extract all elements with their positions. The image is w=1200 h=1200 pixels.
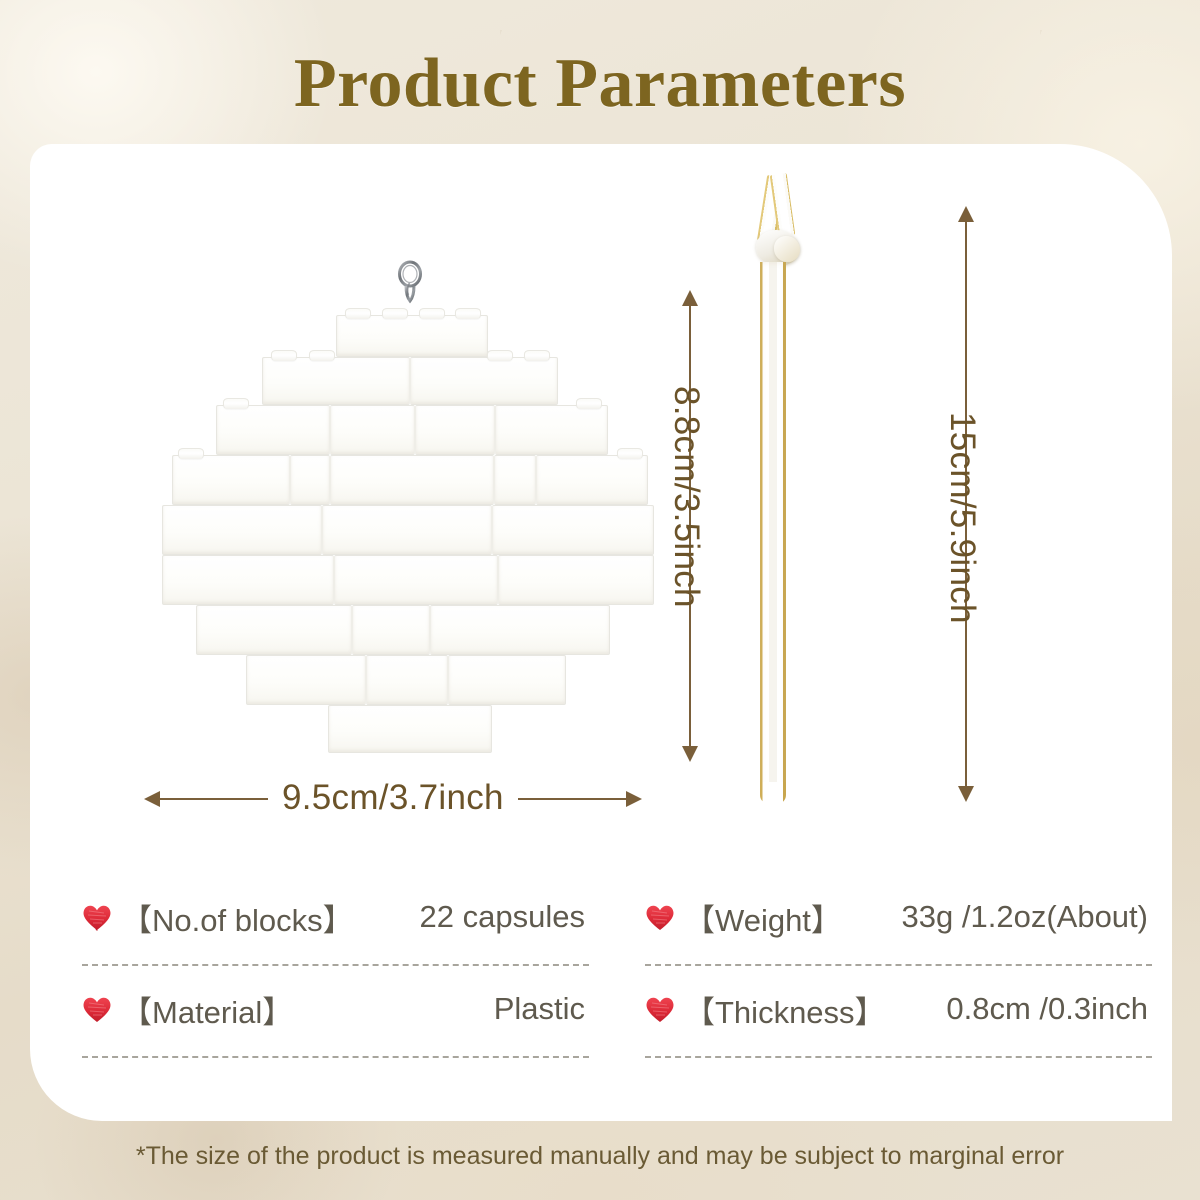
spec-column-right: 【Weight】 33g /1.2oz(About) 【Thickness】 0… bbox=[645, 884, 1152, 1068]
brick bbox=[172, 455, 290, 505]
brick bbox=[162, 505, 322, 555]
spec-row: 【No.of blocks】 22 capsules bbox=[82, 884, 589, 976]
spec-key: 【Weight】 bbox=[684, 895, 842, 940]
brick bbox=[536, 455, 648, 505]
stud bbox=[576, 398, 602, 409]
brick bbox=[430, 605, 610, 655]
brick bbox=[262, 357, 410, 405]
spec-divider bbox=[645, 964, 1152, 966]
brick bbox=[334, 555, 498, 605]
spec-value: 22 capsules bbox=[420, 899, 589, 935]
brick bbox=[290, 455, 330, 505]
spec-table: 【No.of blocks】 22 capsules 【Material】 Pl… bbox=[82, 884, 1152, 1068]
stud bbox=[271, 350, 297, 361]
spec-value: 0.8cm /0.3inch bbox=[946, 991, 1152, 1027]
brick bbox=[498, 555, 654, 605]
brick bbox=[366, 655, 448, 705]
stud bbox=[223, 398, 249, 409]
brick bbox=[415, 405, 495, 455]
brick bbox=[216, 405, 330, 455]
brick-heart-assembly bbox=[150, 297, 670, 857]
disclaimer-text: *The size of the product is measured man… bbox=[0, 1142, 1200, 1171]
spec-row: 【Thickness】 0.8cm /0.3inch bbox=[645, 976, 1152, 1068]
content-card: 8.8cm/3.5inch 9.5cm/3.7inch 15cm/5.9inch bbox=[30, 144, 1172, 1121]
brick bbox=[330, 455, 494, 505]
stud bbox=[178, 448, 204, 459]
brick bbox=[196, 605, 352, 655]
brick bbox=[410, 357, 558, 405]
ribbon-band bbox=[760, 262, 786, 790]
spec-divider bbox=[645, 1056, 1152, 1058]
heart-icon bbox=[645, 904, 675, 931]
dimension-ribbon-length-label: 15cm/5.9inch bbox=[942, 412, 982, 624]
spec-value: 33g /1.2oz(About) bbox=[902, 899, 1152, 935]
brick bbox=[494, 455, 536, 505]
heart-icon bbox=[82, 904, 112, 931]
ribbon-product-figure bbox=[730, 174, 870, 824]
brick bbox=[448, 655, 566, 705]
ribbon-knot-loop bbox=[774, 236, 800, 262]
brick bbox=[328, 705, 492, 753]
heart-icon bbox=[645, 996, 675, 1023]
heart-icon bbox=[82, 996, 112, 1023]
spec-key: 【Material】 bbox=[121, 987, 293, 1032]
brick bbox=[352, 605, 430, 655]
brick bbox=[246, 655, 366, 705]
brick bbox=[495, 405, 608, 455]
spec-row: 【Material】 Plastic bbox=[82, 976, 589, 1068]
brick bbox=[322, 505, 492, 555]
spec-key: 【Thickness】 bbox=[684, 987, 886, 1032]
spec-key: 【No.of blocks】 bbox=[121, 895, 354, 940]
ribbon-end bbox=[760, 782, 786, 804]
dimension-heart-width-label: 9.5cm/3.7inch bbox=[268, 778, 518, 818]
brick bbox=[492, 505, 654, 555]
stud bbox=[309, 350, 335, 361]
brick bbox=[162, 555, 334, 605]
stud bbox=[487, 350, 513, 361]
page-title: Product Parameters bbox=[0, 44, 1200, 124]
stud bbox=[419, 308, 445, 319]
dimension-heart-height-label: 8.8cm/3.5inch bbox=[666, 386, 706, 608]
stud bbox=[455, 308, 481, 319]
spec-row: 【Weight】 33g /1.2oz(About) bbox=[645, 884, 1152, 976]
stud bbox=[617, 448, 643, 459]
brick bbox=[330, 405, 415, 455]
brick bbox=[336, 315, 488, 357]
stud bbox=[524, 350, 550, 361]
spec-divider bbox=[82, 964, 589, 966]
spec-divider bbox=[82, 1056, 589, 1058]
stud bbox=[345, 308, 371, 319]
spec-value: Plastic bbox=[494, 991, 589, 1027]
stud bbox=[382, 308, 408, 319]
spec-column-left: 【No.of blocks】 22 capsules 【Material】 Pl… bbox=[82, 884, 589, 1068]
